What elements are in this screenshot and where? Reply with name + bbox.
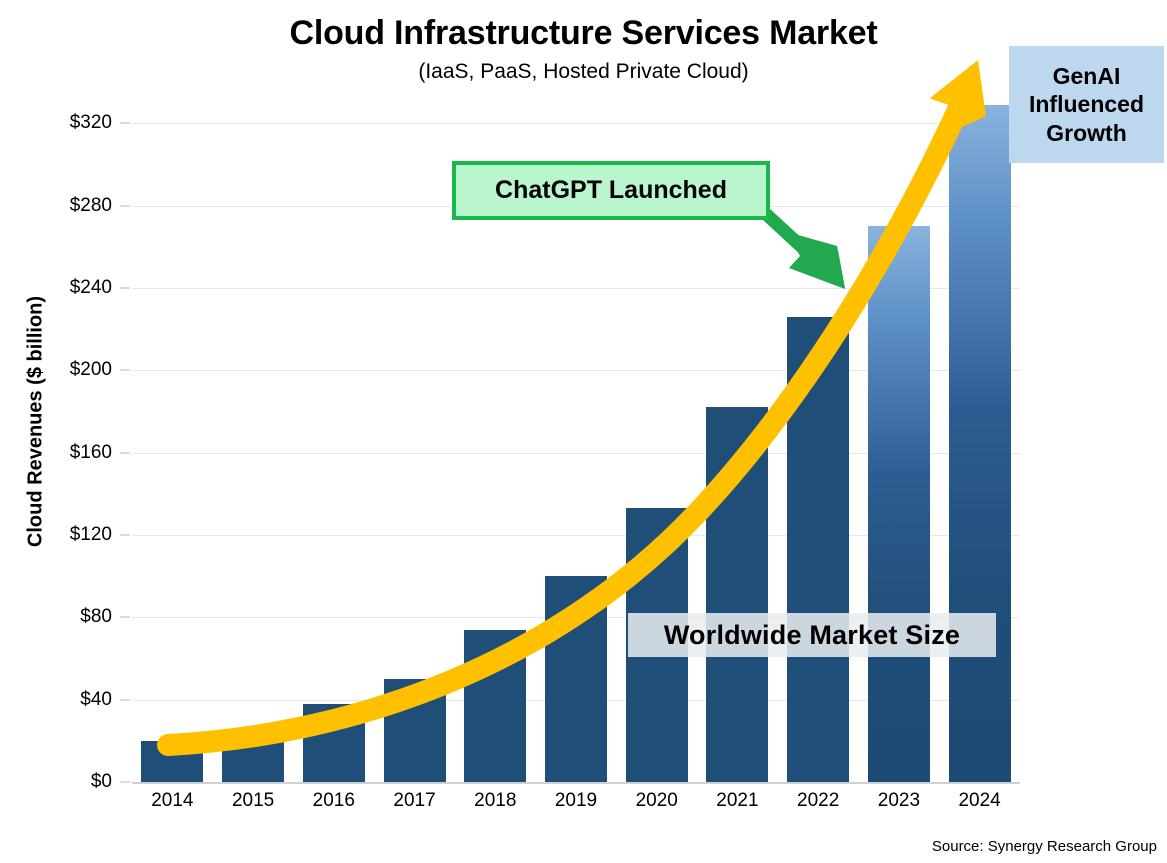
y-axis-tick-mark [120,370,130,371]
chart-title: Cloud Infrastructure Services Market [0,14,1167,53]
genai-line-1: GenAI [1053,62,1121,90]
y-axis-tick-label: $40 [18,689,112,711]
bar-2019 [545,576,607,782]
y-axis-tick-mark [120,205,130,206]
bar-2024 [949,105,1011,782]
chart-subtitle: (IaaS, PaaS, Hosted Private Cloud) [0,60,1167,84]
y-axis-tick-mark [120,617,130,618]
y-axis-tick-label: $320 [18,112,112,134]
x-axis-tick-label: 2018 [455,790,536,812]
x-axis-tick-label: 2015 [213,790,294,812]
y-axis-tick-mark [120,287,130,288]
y-axis-tick-label: $80 [18,606,112,628]
y-axis-tick-mark [120,699,130,700]
bar-2014 [141,741,203,782]
y-axis-tick-label: $160 [18,442,112,464]
y-axis-tick-mark [120,452,130,453]
bar-2021 [706,407,768,782]
x-axis-tick-label: 2021 [697,790,778,812]
x-axis-tick-label: 2020 [616,790,697,812]
x-axis-tick-label: 2019 [536,790,617,812]
chatgpt-launched-callout: ChatGPT Launched [452,161,770,220]
y-axis-tick-label: $200 [18,359,112,381]
y-axis-tick-label: $120 [18,524,112,546]
genai-influenced-growth-callout: GenAI Influenced Growth [1009,46,1164,163]
x-axis-tick-label: 2014 [132,790,213,812]
bar-2023 [868,226,930,782]
x-axis-tick-label: 2023 [859,790,940,812]
y-axis-tick-label: $0 [18,771,112,793]
genai-line-3: Growth [1046,119,1127,147]
y-axis-tick-mark [120,123,130,124]
bar-2016 [303,704,365,782]
x-axis-tick-label: 2016 [293,790,374,812]
chart-canvas: Cloud Infrastructure Services Market (Ia… [0,0,1167,863]
genai-line-2: Influenced [1029,90,1144,118]
y-axis-tick-label: $280 [18,195,112,217]
bar-2018 [464,630,526,782]
worldwide-market-size-label: Worldwide Market Size [628,613,996,657]
y-axis-tick-label: $240 [18,277,112,299]
x-axis-tick-label: 2017 [374,790,455,812]
source-attribution: Source: Synergy Research Group [932,838,1157,855]
bar-2022 [787,317,849,782]
gridline [132,782,1020,784]
x-axis-tick-label: 2024 [939,790,1020,812]
x-axis-tick-label: 2022 [778,790,859,812]
y-axis-tick-mark [120,782,130,783]
bar-2017 [384,679,446,782]
y-axis-tick-mark [120,534,130,535]
x-axis-tick-group: 2014201520162017201820192020202120222023… [132,790,1020,824]
gridline [132,123,1020,124]
bar-2015 [222,735,284,782]
